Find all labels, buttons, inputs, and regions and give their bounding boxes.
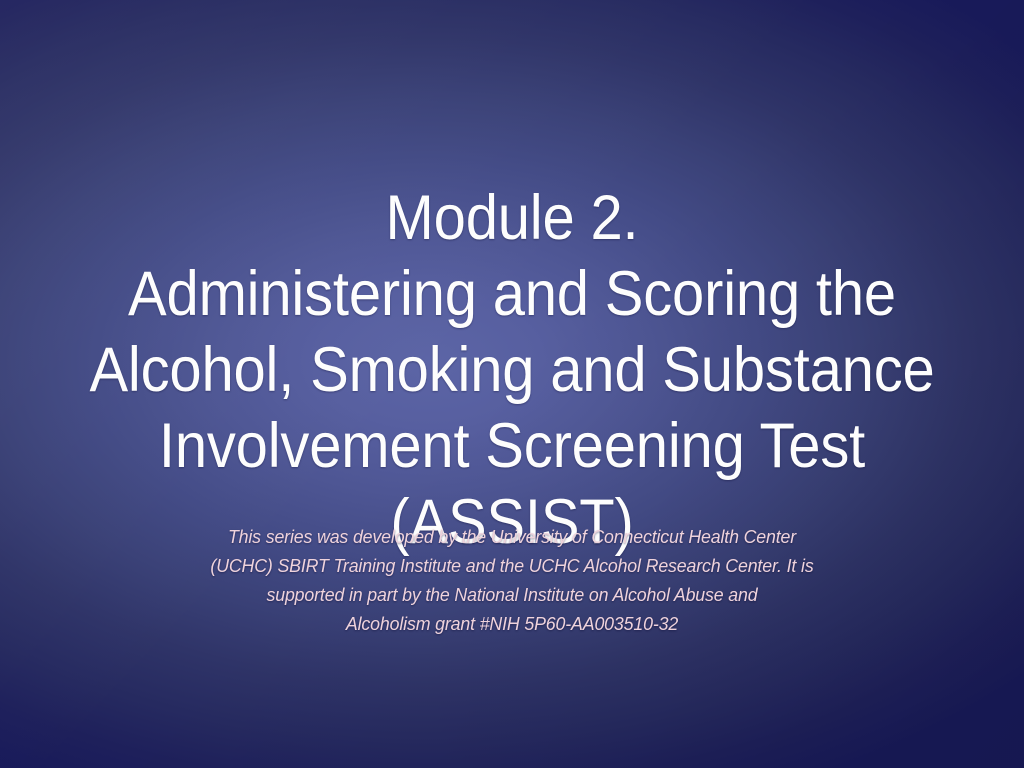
presentation-slide: Module 2. Administering and Scoring the …	[0, 0, 1024, 768]
slide-subtitle-line-2: (UCHC) SBIRT Training Institute and the …	[20, 551, 1003, 580]
slide-title-line-2: Administering and Scoring the	[41, 256, 983, 332]
slide-subtitle-line-4: Alcoholism grant #NIH 5P60-AA003510-32	[20, 609, 1003, 638]
slide-title: Module 2. Administering and Scoring the …	[41, 180, 983, 560]
slide-subtitle: This series was developed by the Univers…	[20, 522, 1003, 638]
slide-title-line-1: Module 2.	[41, 180, 983, 256]
slide-subtitle-line-3: supported in part by the National Instit…	[20, 580, 1003, 609]
slide-subtitle-line-1: This series was developed by the Univers…	[20, 522, 1003, 551]
slide-title-line-4: Involvement Screening Test	[41, 408, 983, 484]
slide-title-line-3: Alcohol, Smoking and Substance	[41, 332, 983, 408]
slide-content: Module 2. Administering and Scoring the …	[0, 0, 1024, 768]
